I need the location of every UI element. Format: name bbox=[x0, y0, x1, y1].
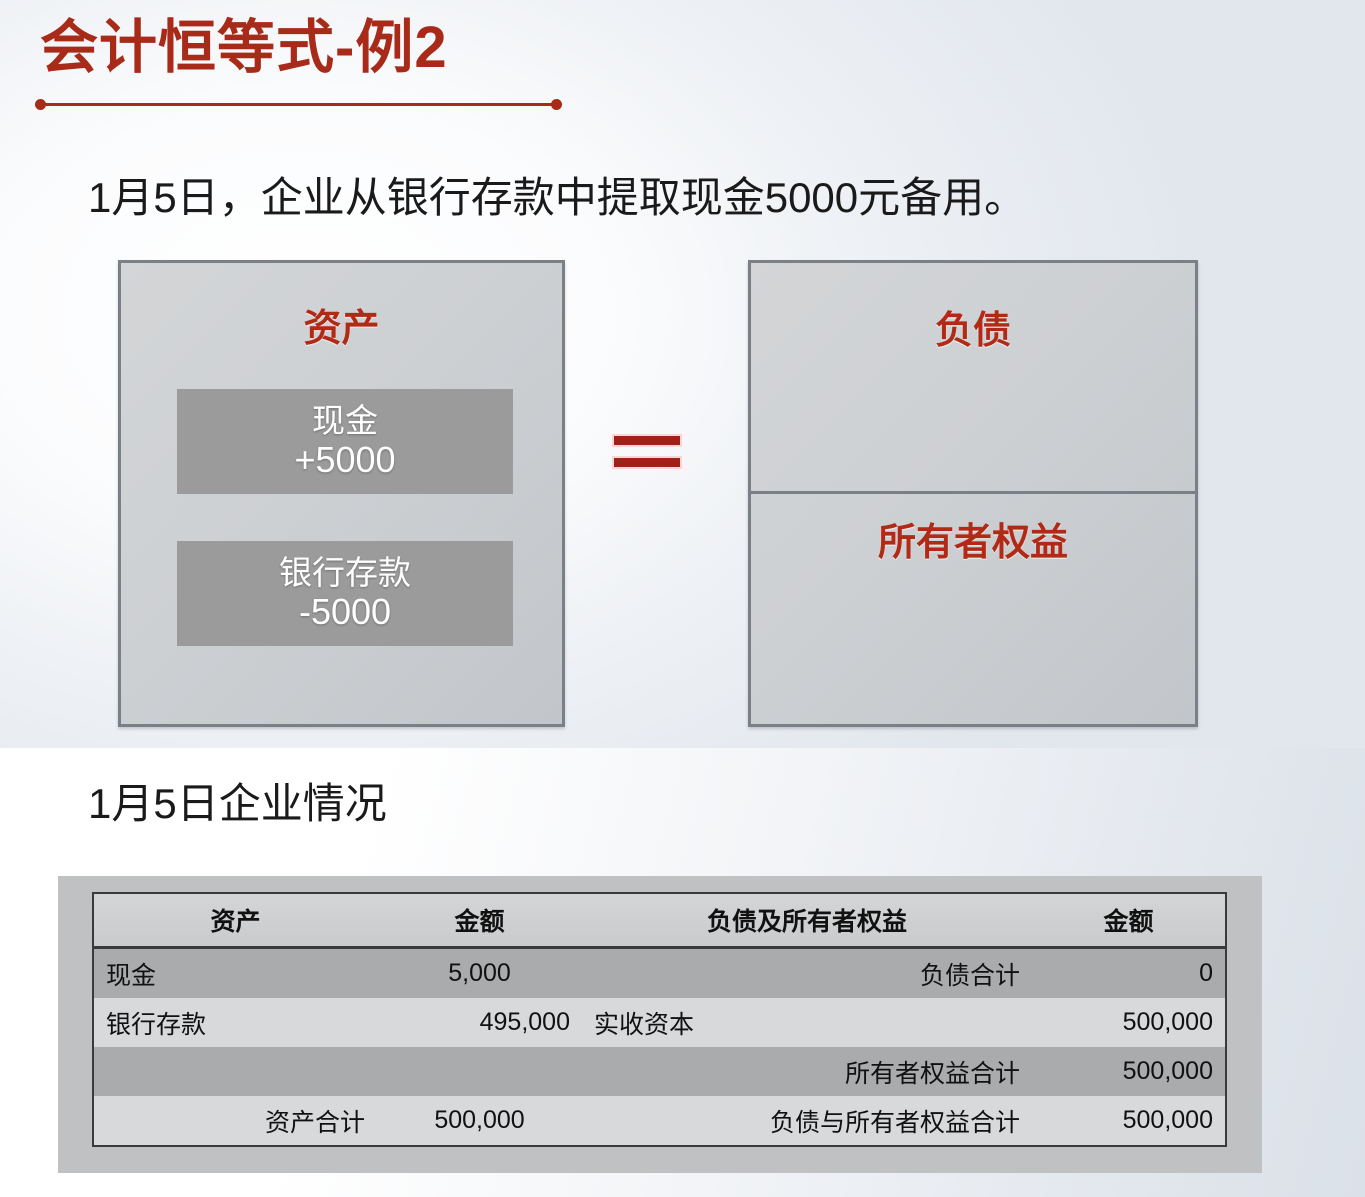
balance-sheet-table: 资产 金额 负债及所有者权益 金额 现金 5,000 负债合计 0 银行存款 4… bbox=[94, 894, 1225, 1145]
balance-sheet-heading: 1月5日企业情况 bbox=[88, 770, 387, 831]
liabilities-equity-divider bbox=[751, 491, 1195, 494]
cell-liability-name: 实收资本 bbox=[582, 998, 1032, 1047]
cell-asset-amount: 5,000 bbox=[377, 948, 582, 999]
underline-bar bbox=[42, 103, 555, 106]
liabilities-title: 负债 bbox=[751, 299, 1195, 354]
cell-liability-amount: 0 bbox=[1032, 948, 1225, 999]
column-header-assets-amount: 金额 bbox=[377, 894, 582, 948]
transaction-description: 1月5日，企业从银行存款中提取现金5000元备用。 bbox=[88, 164, 1026, 225]
balance-sheet-panel: 资产 金额 负债及所有者权益 金额 现金 5,000 负债合计 0 银行存款 4… bbox=[58, 876, 1262, 1173]
owners-equity-title: 所有者权益 bbox=[751, 511, 1195, 566]
cell-asset-name: 银行存款 bbox=[94, 998, 377, 1047]
cell-assets-total-name: 资产合计 bbox=[94, 1096, 377, 1145]
cell-liab-equity-total-name: 负债与所有者权益合计 bbox=[582, 1096, 1032, 1145]
table-row: 所有者权益合计 500,000 bbox=[94, 1047, 1225, 1096]
cell-liab-equity-total-amount: 500,000 bbox=[1032, 1096, 1225, 1145]
column-header-liabilities-equity: 负债及所有者权益 bbox=[582, 894, 1032, 948]
table-header-row: 资产 金额 负债及所有者权益 金额 bbox=[94, 894, 1225, 948]
cell-liability-amount: 500,000 bbox=[1032, 998, 1225, 1047]
table-row: 银行存款 495,000 实收资本 500,000 bbox=[94, 998, 1225, 1047]
bank-deposit-item-amount: -5000 bbox=[299, 592, 391, 632]
table-row: 资产合计 500,000 负债与所有者权益合计 500,000 bbox=[94, 1096, 1225, 1145]
equals-sign-icon bbox=[612, 434, 682, 476]
column-header-assets: 资产 bbox=[94, 894, 377, 948]
underline-dot-right-icon bbox=[551, 99, 562, 110]
cell-equity-total-amount: 500,000 bbox=[1032, 1047, 1225, 1096]
equals-bar-bottom bbox=[612, 456, 682, 469]
bank-deposit-item-label: 银行存款 bbox=[279, 555, 411, 592]
assets-box: 资产 现金 +5000 银行存款 -5000 bbox=[118, 260, 565, 727]
title-underline-decoration bbox=[35, 98, 562, 112]
cash-item-amount: +5000 bbox=[294, 440, 395, 480]
assets-box-title: 资产 bbox=[121, 297, 562, 352]
cash-item-label: 现金 bbox=[312, 403, 378, 440]
cell-asset-name bbox=[94, 1047, 377, 1096]
bank-deposit-item-box: 银行存款 -5000 bbox=[177, 541, 513, 646]
slide-balance-sheet: 1月5日企业情况 资产 金额 负债及所有者权益 金额 现金 5,000 负债合计 bbox=[0, 748, 1365, 1197]
slide-title: 会计恒等式-例2 bbox=[40, 16, 448, 81]
equals-bar-top bbox=[612, 434, 682, 447]
cell-liability-name: 负债合计 bbox=[582, 948, 1032, 999]
cell-asset-name: 现金 bbox=[94, 948, 377, 999]
table-row: 现金 5,000 负债合计 0 bbox=[94, 948, 1225, 999]
slide-accounting-equation: 会计恒等式-例2 1月5日，企业从银行存款中提取现金5000元备用。 资产 现金… bbox=[0, 0, 1365, 748]
cell-assets-total-amount: 500,000 bbox=[377, 1096, 582, 1145]
cell-asset-amount bbox=[377, 1047, 582, 1096]
cell-asset-amount: 495,000 bbox=[377, 998, 582, 1047]
cell-equity-total-name: 所有者权益合计 bbox=[582, 1047, 1032, 1096]
cash-item-box: 现金 +5000 bbox=[177, 389, 513, 494]
column-header-liabilities-amount: 金额 bbox=[1032, 894, 1225, 948]
liabilities-and-equity-box: 负债 所有者权益 bbox=[748, 260, 1198, 727]
